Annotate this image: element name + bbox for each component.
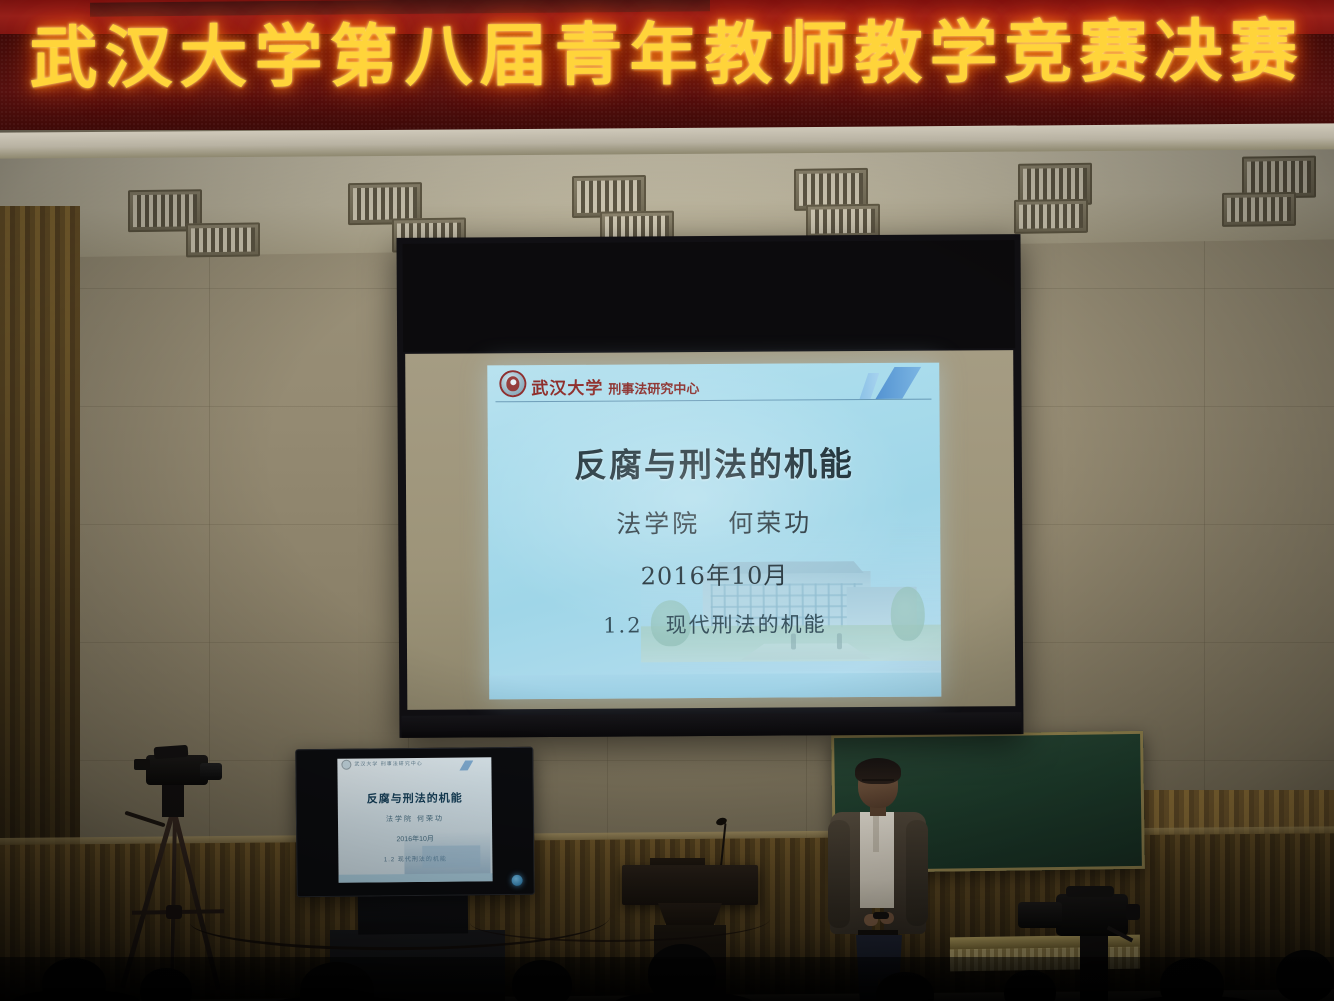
screen-surface: 武汉大学刑事法研究中心 — [405, 350, 1015, 710]
camera-viewfinder — [1126, 904, 1140, 920]
lecture-hall-photo: 武汉大学刑事法研究中心 — [0, 0, 1334, 1001]
monitor-slide-footer — [339, 873, 493, 883]
slide-header: 武汉大学刑事法研究中心 — [487, 363, 939, 404]
slide-title: 反腐与刑法的机能 — [488, 437, 940, 488]
projected-slide: 武汉大学刑事法研究中心 — [487, 363, 941, 700]
camera-lens-icon — [1018, 902, 1062, 928]
chevron-accent-icon — [459, 760, 473, 770]
video-camera-body — [146, 755, 208, 785]
slide-watermark-campus — [640, 521, 941, 673]
led-banner-text: 武汉大学第八届青年教师教学竞赛决赛 — [0, 1, 1334, 95]
vent-grille-icon — [806, 204, 880, 239]
projection-screen: 武汉大学刑事法研究中心 — [396, 234, 1023, 738]
monitor-slide-title: 反腐与刑法的机能 — [338, 789, 492, 807]
tripod-head — [162, 783, 184, 817]
slide-org-main: 武汉大学 — [531, 379, 603, 399]
screen-dead-area — [403, 240, 1016, 352]
monitor-screen: 武汉大学 刑事法研究中心 反腐与刑法的机能 法学院 何荣功 2016年10月 1… — [337, 757, 492, 883]
slide-author: 法学院 何荣功 — [488, 503, 940, 542]
monitor-org-name: 武汉大学 刑事法研究中心 — [354, 760, 422, 768]
tripod-hub — [166, 905, 182, 919]
chevron-accent-icon — [875, 367, 921, 399]
slide-org-name: 武汉大学刑事法研究中心 — [531, 373, 699, 399]
vent-grille-icon — [1222, 192, 1296, 227]
camera-viewfinder — [134, 759, 150, 770]
screen-weight-bar — [401, 712, 1021, 738]
camera-top-handle — [1066, 886, 1114, 897]
university-crest-icon — [342, 761, 350, 769]
presenter-shirt-placket — [873, 812, 879, 852]
vent-grille-icon — [1014, 199, 1088, 234]
university-crest-icon — [501, 372, 524, 395]
monitor-watermark — [404, 831, 490, 876]
led-banner: 武汉大学第八届青年教师教学竞赛决赛 — [0, 0, 1334, 152]
slide-org-sub: 刑事法研究中心 — [608, 382, 699, 398]
presenter-clicker — [873, 912, 889, 919]
presenter-arm-right — [906, 820, 928, 926]
presenter-glasses-icon — [862, 779, 894, 788]
presenter-arm-left — [828, 820, 850, 928]
monitor-slide-author: 法学院 何荣功 — [338, 813, 492, 825]
lectern-top — [622, 865, 758, 905]
monitor-slide-header: 武汉大学 刑事法研究中心 — [337, 757, 491, 771]
foreground-shadow — [0, 957, 1334, 1001]
power-led-icon[interactable] — [512, 875, 523, 886]
camera-lens-icon — [200, 763, 222, 780]
slide-header-divider — [495, 399, 931, 403]
vent-grille-icon — [186, 222, 260, 257]
confidence-monitor: 武汉大学 刑事法研究中心 反腐与刑法的机能 法学院 何荣功 2016年10月 1… — [295, 747, 535, 897]
camera-hood — [154, 745, 189, 759]
tripod-pan-handle — [124, 811, 165, 828]
slide-footer-band — [489, 673, 941, 700]
wood-slat-wall-left-shading — [0, 206, 80, 886]
slide-section-heading: 1.2 现代刑法的机能 — [489, 608, 941, 641]
slide-date: 2016年10月 — [488, 555, 940, 593]
chevron-accent-secondary-icon — [859, 373, 879, 399]
